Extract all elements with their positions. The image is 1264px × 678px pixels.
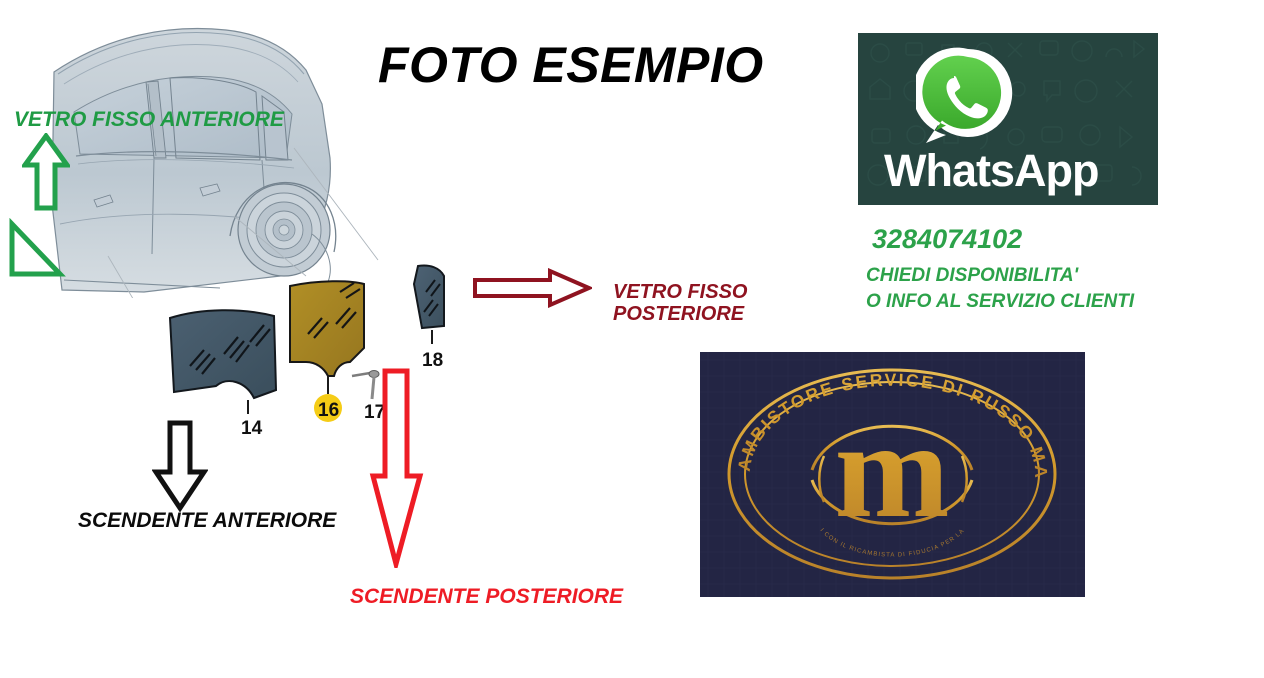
contact-phone-number: 3284074102 [872,224,1022,255]
arrow-right-icon [472,268,592,308]
shop-logo-monogram: m [835,393,950,546]
label-rear-fixed-glass: VETRO FISSO POSTERIORE [613,281,747,326]
arrow-up-icon [22,133,70,211]
svg-text:16: 16 [318,400,339,421]
label-front-drop-glass: SCENDENTE ANTERIORE [78,509,336,533]
label-rear-drop-glass: SCENDENTE POSTERIORE [350,585,623,609]
whatsapp-wordmark: WhatsApp [884,145,1098,197]
label-rear-fixed-glass-line2: POSTERIORE [613,303,747,325]
label-rear-fixed-glass-line1: VETRO FISSO [613,281,747,303]
screenshot-canvas: 14 16 17 [0,0,1264,678]
label-front-fixed-glass: VETRO FISSO ANTERIORE [14,108,284,132]
svg-text:14: 14 [241,418,263,439]
page-title-watermark: FOTO ESEMPIO [378,36,764,94]
arrow-down-icon [368,368,424,568]
contact-customer-service-line: O INFO AL SERVIZIO CLIENTI [866,291,1134,313]
svg-text:18: 18 [422,350,443,371]
svg-text:m: m [835,393,950,546]
contact-availability-line: CHIEDI DISPONIBILITA' [866,265,1078,287]
arrow-down-icon [152,420,208,512]
whatsapp-phone-icon [916,45,1020,149]
triangle-icon [6,218,66,280]
shop-logo: MRICAMBISTORE SERVICE DI RUSSO MARCO m D… [700,352,1085,597]
whatsapp-banner: WhatsApp [858,33,1158,205]
